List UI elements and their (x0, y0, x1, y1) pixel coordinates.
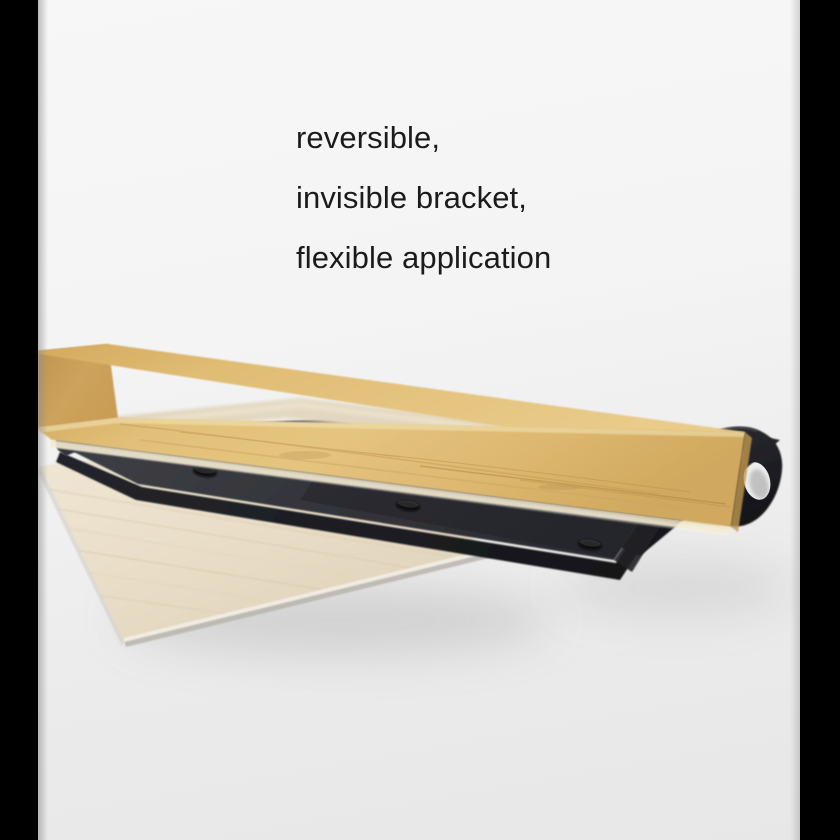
caption-line-2: invisible bracket, (296, 168, 551, 228)
caption-line-3: flexible application (296, 228, 551, 288)
right-letterbox-bar (800, 0, 840, 840)
product-image-canvas: reversible, invisible bracket, flexible … (0, 0, 840, 840)
left-letterbox-bar (0, 0, 38, 840)
caption-block: reversible, invisible bracket, flexible … (296, 108, 551, 288)
caption-line-1: reversible, (296, 108, 551, 168)
